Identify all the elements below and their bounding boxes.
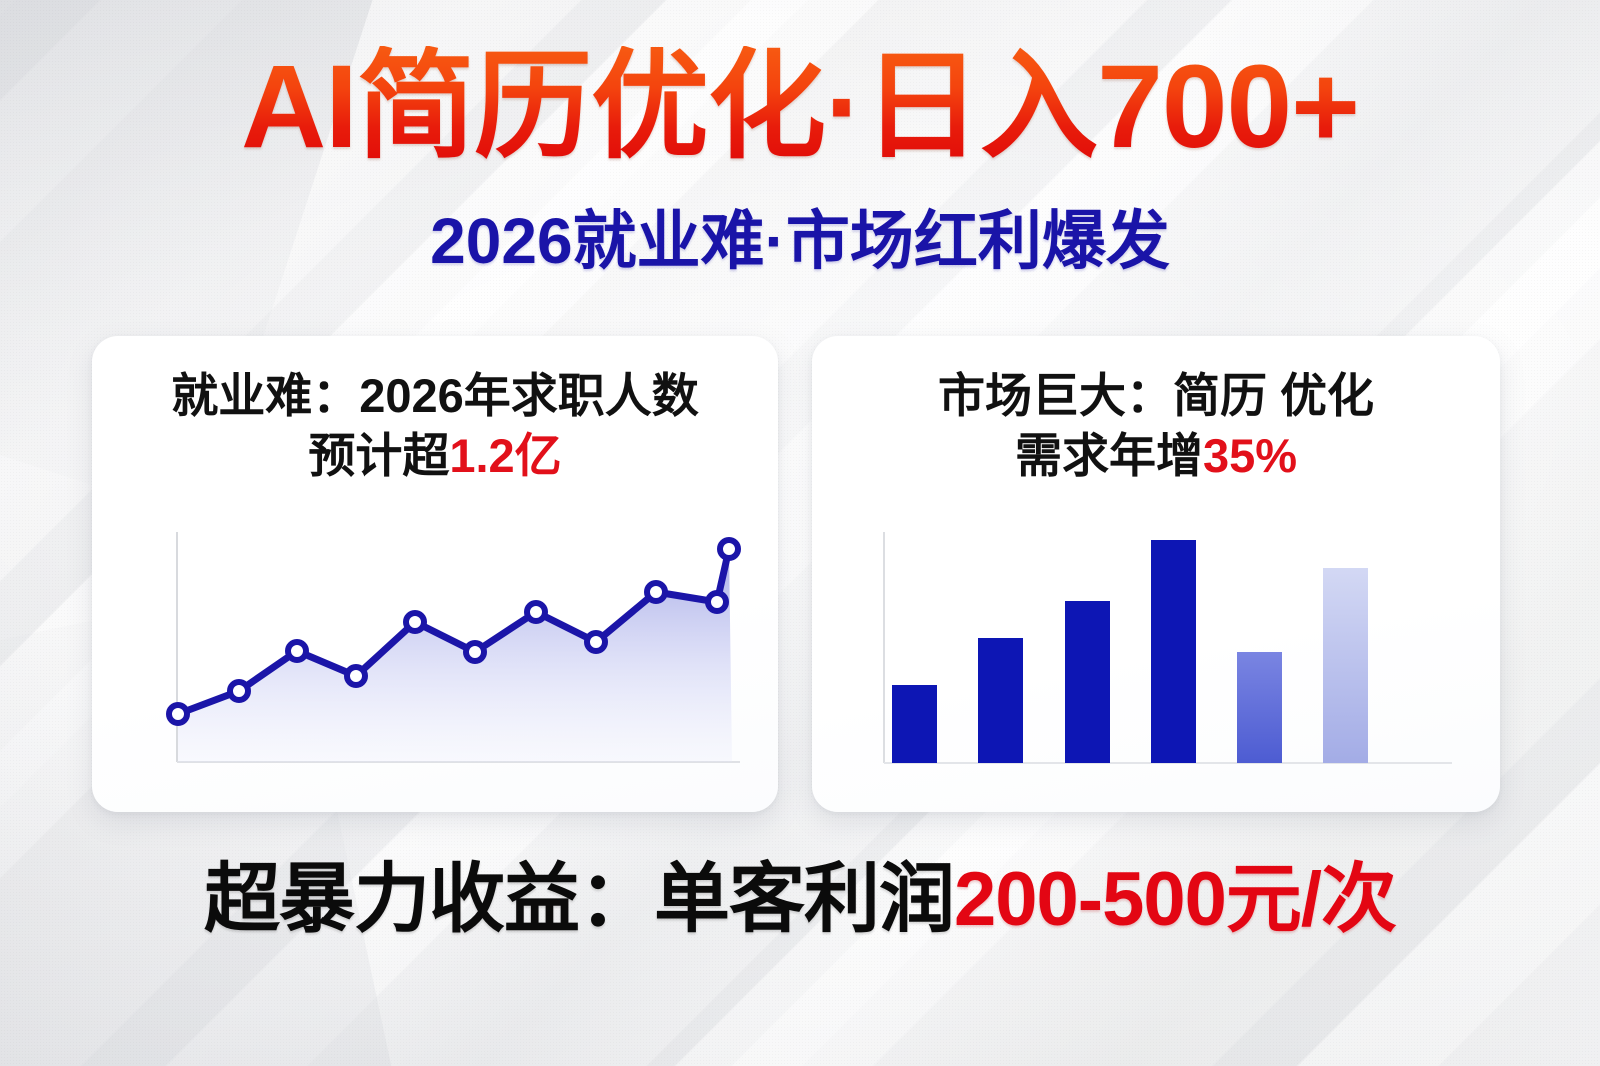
data-point	[466, 643, 484, 661]
data-point	[169, 705, 187, 723]
bottom-banner-text: 超暴力收益：单客利润200-500元/次	[204, 858, 1396, 942]
data-point	[708, 593, 726, 611]
bar-chart-bars	[892, 540, 1368, 763]
card-title-line2: 需求年增35%	[834, 426, 1478, 486]
subheadline-text: 2026就业难·市场红利爆发	[430, 206, 1170, 276]
bar	[1151, 540, 1196, 763]
bar	[892, 685, 937, 763]
data-point	[647, 583, 665, 601]
card-title-highlight-value: 1.2亿	[449, 429, 561, 482]
data-point	[230, 682, 248, 700]
bar	[1065, 601, 1110, 763]
card-title-line2-prefix: 预计超	[308, 429, 449, 482]
card-title-line1: 就业难：2026年求职人数	[114, 366, 756, 426]
headline-text: AI简历优化·日入700+	[241, 46, 1359, 169]
card-title-employment: 就业难：2026年求职人数 预计超1.2亿	[114, 366, 756, 486]
line-chart-svg	[92, 514, 778, 794]
card-title-line2: 预计超1.2亿	[114, 426, 756, 486]
bar	[978, 638, 1023, 763]
card-title-highlight-value: 35%	[1203, 429, 1297, 482]
bottom-banner-container: 超暴力收益：单客利润200-500元/次	[0, 858, 1600, 942]
stat-card-employment-difficulty: 就业难：2026年求职人数 预计超1.2亿	[92, 336, 778, 812]
card-title-market: 市场巨大：简历 优化 需求年增35%	[834, 366, 1478, 486]
data-point	[347, 667, 365, 685]
bar-chart-market	[812, 514, 1500, 794]
bar	[1323, 568, 1368, 763]
data-point	[288, 642, 306, 660]
bottom-banner-prefix: 超暴力收益：单客利润	[204, 857, 954, 942]
card-title-line1: 市场巨大：简历 优化	[834, 366, 1478, 426]
bar-chart-svg	[812, 514, 1500, 794]
line-chart-area-fill	[178, 549, 732, 762]
data-point	[720, 540, 738, 558]
data-point	[527, 603, 545, 621]
bar	[1237, 652, 1282, 763]
card-title-line2-prefix: 需求年增	[1015, 429, 1203, 482]
headline-container: AI简历优化·日入700+	[0, 46, 1600, 169]
data-point	[406, 613, 424, 631]
subheadline-container: 2026就业难·市场红利爆发	[0, 206, 1600, 276]
data-point	[587, 633, 605, 651]
stat-card-market-size: 市场巨大：简历 优化 需求年增35%	[812, 336, 1500, 812]
poster-canvas: AI简历优化·日入700+ 2026就业难·市场红利爆发 就业难：2026年求职…	[0, 0, 1600, 1066]
bottom-banner-highlight: 200-500元/次	[954, 857, 1396, 942]
line-chart-employment	[92, 514, 778, 794]
